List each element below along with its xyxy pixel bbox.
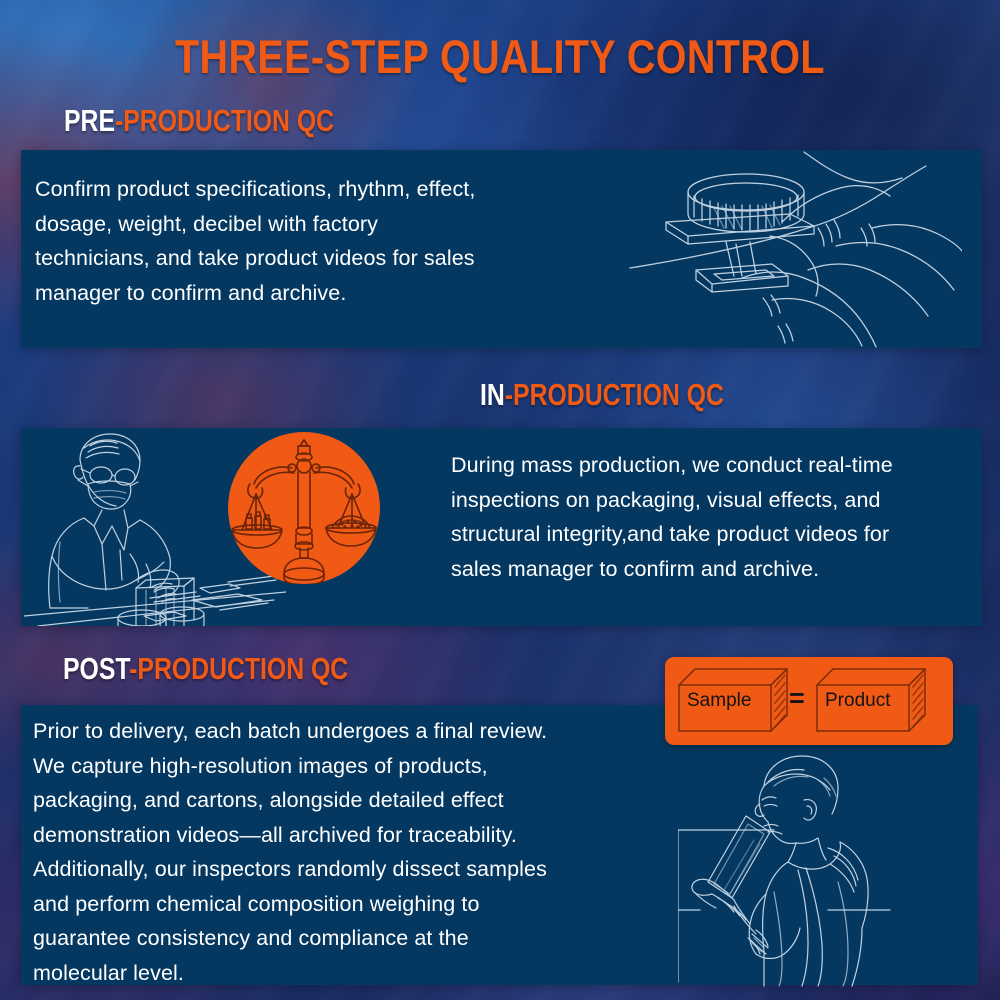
- step-heading-post-production: POST-PRODUCTION QC: [63, 652, 348, 686]
- step-heading-pre-production: PRE-PRODUCTION QC: [64, 104, 334, 138]
- page-title: THREE-STEP QUALITY CONTROL: [80, 32, 920, 82]
- product-box-label: Product: [825, 690, 890, 712]
- step-heading-suffix: -PRODUCTION QC: [129, 651, 348, 686]
- step-heading-prefix: POST: [63, 651, 129, 686]
- step-heading-prefix: PRE: [64, 103, 115, 138]
- man-with-tablet-icon: [678, 752, 928, 988]
- step-heading-in-production: IN-PRODUCTION QC: [480, 378, 724, 412]
- step-heading-suffix: -PRODUCTION QC: [505, 377, 724, 412]
- step-heading-suffix: -PRODUCTION QC: [115, 103, 334, 138]
- balance-scale-badge: [228, 432, 380, 584]
- step-body-post-production: Prior to delivery, each batch undergoes …: [33, 714, 663, 985]
- sample-equals-product-card: Sample = Product: [665, 657, 953, 745]
- step-body-pre-production: Confirm product specifications, rhythm, …: [35, 172, 635, 310]
- equals-sign: =: [789, 683, 805, 714]
- step-heading-prefix: IN: [480, 377, 505, 412]
- hand-holding-product-icon: [622, 150, 962, 348]
- infographic-poster: THREE-STEP QUALITY CONTROL PRE-PRODUCTIO…: [0, 0, 1000, 1000]
- step-body-in-production: During mass production, we conduct real-…: [451, 448, 981, 586]
- sample-box-label: Sample: [687, 690, 751, 712]
